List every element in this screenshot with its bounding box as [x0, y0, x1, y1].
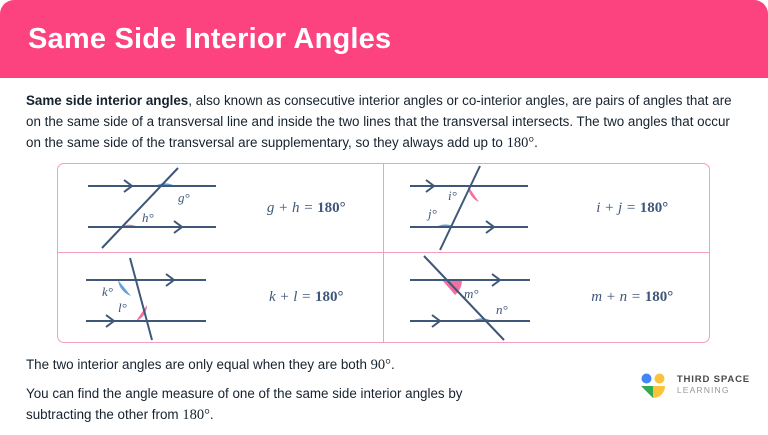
figure-ij: i° j° [400, 164, 570, 252]
angle-fill-k [118, 280, 131, 296]
intro-value-180: 180° [507, 135, 535, 151]
outro-line-2-text: You can find the angle measure of one of… [26, 386, 462, 422]
page-title: Same Side Interior Angles [0, 23, 391, 56]
diagram-cell-gh: g° h° g + h = 180° [58, 164, 384, 253]
outro-line-2-period: . [210, 407, 214, 422]
equation-gh-rhs: 180° [317, 200, 346, 216]
logo-dot-yellow [654, 374, 664, 384]
angle-label-h: h° [142, 210, 154, 225]
transversal-line [102, 168, 178, 248]
outro-line-1: The two interior angles are only equal w… [26, 357, 395, 374]
outro-line-1-text: The two interior angles are only equal w… [26, 357, 371, 372]
logo-dot-blue [641, 374, 651, 384]
angle-label-l: l° [118, 300, 127, 315]
page-header: Same Side Interior Angles [0, 0, 768, 78]
intro-paragraph: Same side interior angles, also known as… [26, 90, 742, 154]
logo-arc-yellow [653, 386, 665, 398]
figure-mn: m° n° [400, 254, 570, 342]
angle-label-i: i° [448, 188, 457, 203]
diagram-panel: g° h° g + h = 180° i° j° i + [57, 163, 710, 343]
outro-value-90: 90° [371, 357, 391, 373]
diagram-cell-mn: m° n° m + n = 180° [384, 253, 710, 342]
intro-bold-lead: Same side interior angles [26, 93, 188, 108]
brand-logo-text: THIRD SPACE LEARNING [677, 375, 750, 394]
infographic-card: Same Side Interior Angles Same side inte… [0, 0, 768, 435]
equation-mn-rhs: 180° [645, 289, 674, 305]
brand-name-line-2: LEARNING [677, 386, 750, 395]
equation-ij-lhs: i + j = [596, 200, 640, 216]
angle-label-n: n° [496, 302, 508, 317]
equation-ij: i + j = 180° [570, 200, 710, 217]
outro-line-1-period: . [391, 357, 395, 372]
intro-text-2: . [534, 135, 538, 150]
brand-logo: THIRD SPACE LEARNING [639, 372, 750, 398]
equation-mn: m + n = 180° [570, 289, 710, 306]
figure-kl: k° l° [74, 254, 244, 342]
angle-label-j: j° [426, 206, 437, 221]
equation-gh-lhs: g + h = [267, 200, 317, 216]
angle-label-m: m° [464, 286, 479, 301]
equation-ij-rhs: 180° [640, 200, 669, 216]
diagram-cell-ij: i° j° i + j = 180° [384, 164, 710, 253]
diagram-cell-kl: k° l° k + l = 180° [58, 253, 384, 342]
third-space-learning-mark-icon [639, 372, 669, 398]
angle-label-k: k° [102, 284, 113, 299]
brand-name-line-1: THIRD SPACE [677, 375, 750, 385]
equation-mn-lhs: m + n = [591, 289, 645, 305]
outro-line-2: You can find the angle measure of one of… [26, 383, 496, 426]
logo-arc-green [641, 386, 653, 398]
equation-kl-rhs: 180° [315, 289, 344, 305]
figure-gh: g° h° [74, 164, 244, 252]
transversal-line [440, 166, 480, 250]
outro-value-180: 180° [182, 407, 210, 423]
transversal-line [130, 258, 152, 340]
equation-kl: k + l = 180° [244, 289, 383, 306]
angle-label-g: g° [178, 190, 190, 205]
equation-kl-lhs: k + l = [269, 289, 315, 305]
equation-gh: g + h = 180° [244, 200, 383, 217]
